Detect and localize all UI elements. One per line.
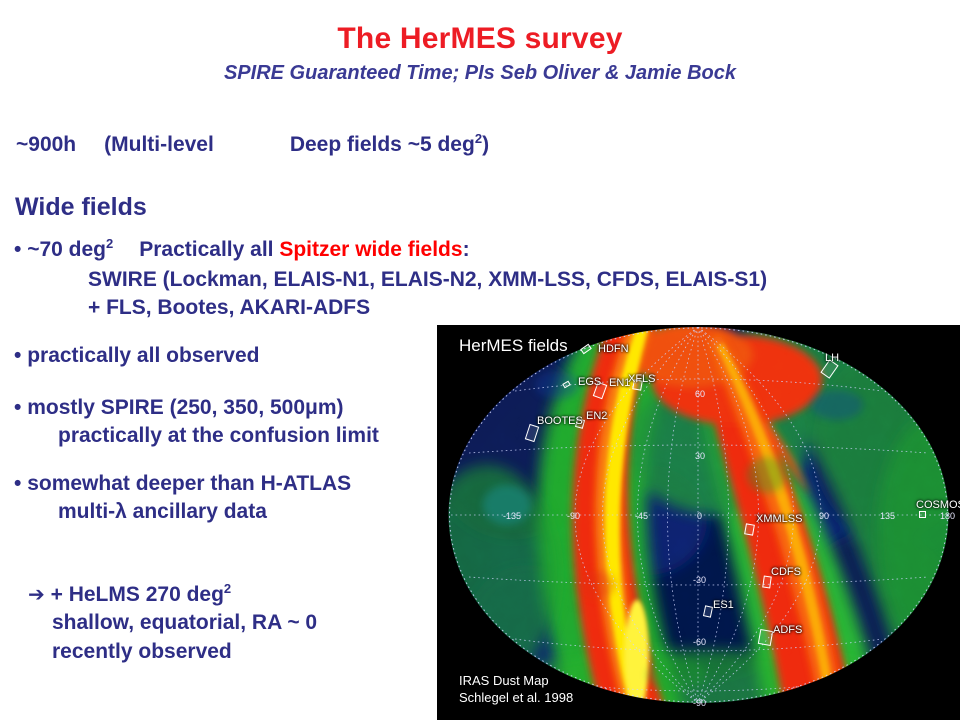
bullet-area-value: ~70 deg: [27, 238, 106, 261]
bullet-text-before: Practically all: [139, 238, 279, 261]
bullet-area-exponent: 2: [106, 236, 113, 251]
field-label-xmmlss: XMMLSS: [756, 513, 802, 525]
grid-label-3: 0: [697, 511, 702, 521]
arrow-icon: ➔: [28, 582, 45, 606]
field-label-lh: LH: [825, 352, 839, 364]
grid-label-1: -90: [567, 511, 580, 521]
helms-exponent: 2: [224, 581, 231, 596]
field-label-adfs: ADFS: [773, 624, 802, 636]
field-label-hdfn: HDFN: [598, 343, 629, 355]
confusion-limit-line: practically at the confusion limit: [58, 424, 379, 448]
field-label-cdfs: CDFS: [771, 566, 801, 578]
skymap-credit: IRAS Dust Map Schlegel et al. 1998: [459, 672, 573, 706]
bullet-glyph: •: [14, 344, 21, 367]
helms-detail-line: shallow, equatorial, RA ~ 0: [52, 611, 317, 635]
field-label-en2: EN2: [586, 410, 607, 422]
ancillary-data-line: multi-λ ancillary data: [58, 500, 267, 524]
grid-label-8: 30: [695, 451, 705, 461]
page-title: The HerMES survey: [0, 22, 960, 56]
bullet-observed-text: practically all observed: [27, 344, 259, 367]
skymap-title: HerMES fields: [459, 336, 568, 356]
bullet-glyph: •: [14, 396, 21, 419]
budget-deep-fields: Deep fields ~5 deg: [290, 133, 475, 156]
field-label-egs: EGS: [578, 376, 601, 388]
grid-label-10: -60: [693, 637, 706, 647]
budget-hours: ~900h: [16, 133, 76, 156]
field-marker-cosmos: [919, 511, 926, 518]
bullet-wide-area: • ~70 deg2Practically all Spitzer wide f…: [14, 238, 470, 262]
skymap-figure: HerMES fields IRAS Dust Map Schlegel et …: [437, 325, 960, 720]
section-heading: Wide fields: [15, 193, 147, 222]
page-subtitle: SPIRE Guaranteed Time; PIs Seb Oliver & …: [0, 62, 960, 85]
skymap-credit-line2: Schlegel et al. 1998: [459, 689, 573, 706]
swire-fields-line: SWIRE (Lockman, ELAIS-N1, ELAIS-N2, XMM-…: [88, 268, 767, 292]
field-marker-adfs: [758, 629, 773, 646]
bullet-observed: • practically all observed: [14, 344, 260, 368]
iras-dust-map-image: [437, 325, 960, 720]
grid-label-9: -30: [693, 575, 706, 585]
budget-paren-open: (Multi-level: [104, 133, 214, 156]
bullet-glyph: •: [14, 238, 21, 261]
bullet-hatlas-depth-text: somewhat deeper than H-ATLAS: [27, 472, 351, 495]
bullet-spire-bands-text: mostly SPIRE (250, 350, 500μm): [27, 396, 343, 419]
bullet-text-after: :: [463, 238, 470, 261]
extra-fields-line: + FLS, Bootes, AKARI-ADFS: [88, 296, 370, 320]
helms-status-line: recently observed: [52, 640, 232, 664]
budget-deep-fields-exponent: 2: [475, 131, 482, 146]
grid-label-6: 180: [940, 511, 955, 521]
helms-footnote: ➔ + HeLMS 270 deg2: [28, 582, 231, 607]
skymap-credit-line1: IRAS Dust Map: [459, 672, 573, 689]
bullet-spire-bands: • mostly SPIRE (250, 350, 500μm): [14, 396, 344, 420]
field-marker-xmmlss: [744, 523, 755, 535]
field-label-xfls: XFLS: [628, 373, 656, 385]
budget-line: ~900h(Multi-levelDeep fields ~5 deg2): [16, 133, 489, 157]
grid-label-4: 90: [819, 511, 829, 521]
field-label-es1: ES1: [713, 599, 734, 611]
field-label-cosmos: COSMOS: [916, 499, 960, 511]
grid-label-0: -135: [503, 511, 521, 521]
bullet-glyph: •: [14, 472, 21, 495]
grid-label-2: -45: [635, 511, 648, 521]
bullet-hatlas-depth: • somewhat deeper than H-ATLAS: [14, 472, 351, 496]
field-label-bootes: BOOTES: [537, 415, 583, 427]
grid-label-5: 135: [880, 511, 895, 521]
budget-paren-close: ): [482, 133, 489, 156]
spitzer-highlight: Spitzer wide fields: [279, 238, 462, 261]
grid-label-7: 60: [695, 389, 705, 399]
grid-label-11: -90: [693, 698, 706, 708]
helms-text: + HeLMS 270 deg: [51, 583, 224, 606]
